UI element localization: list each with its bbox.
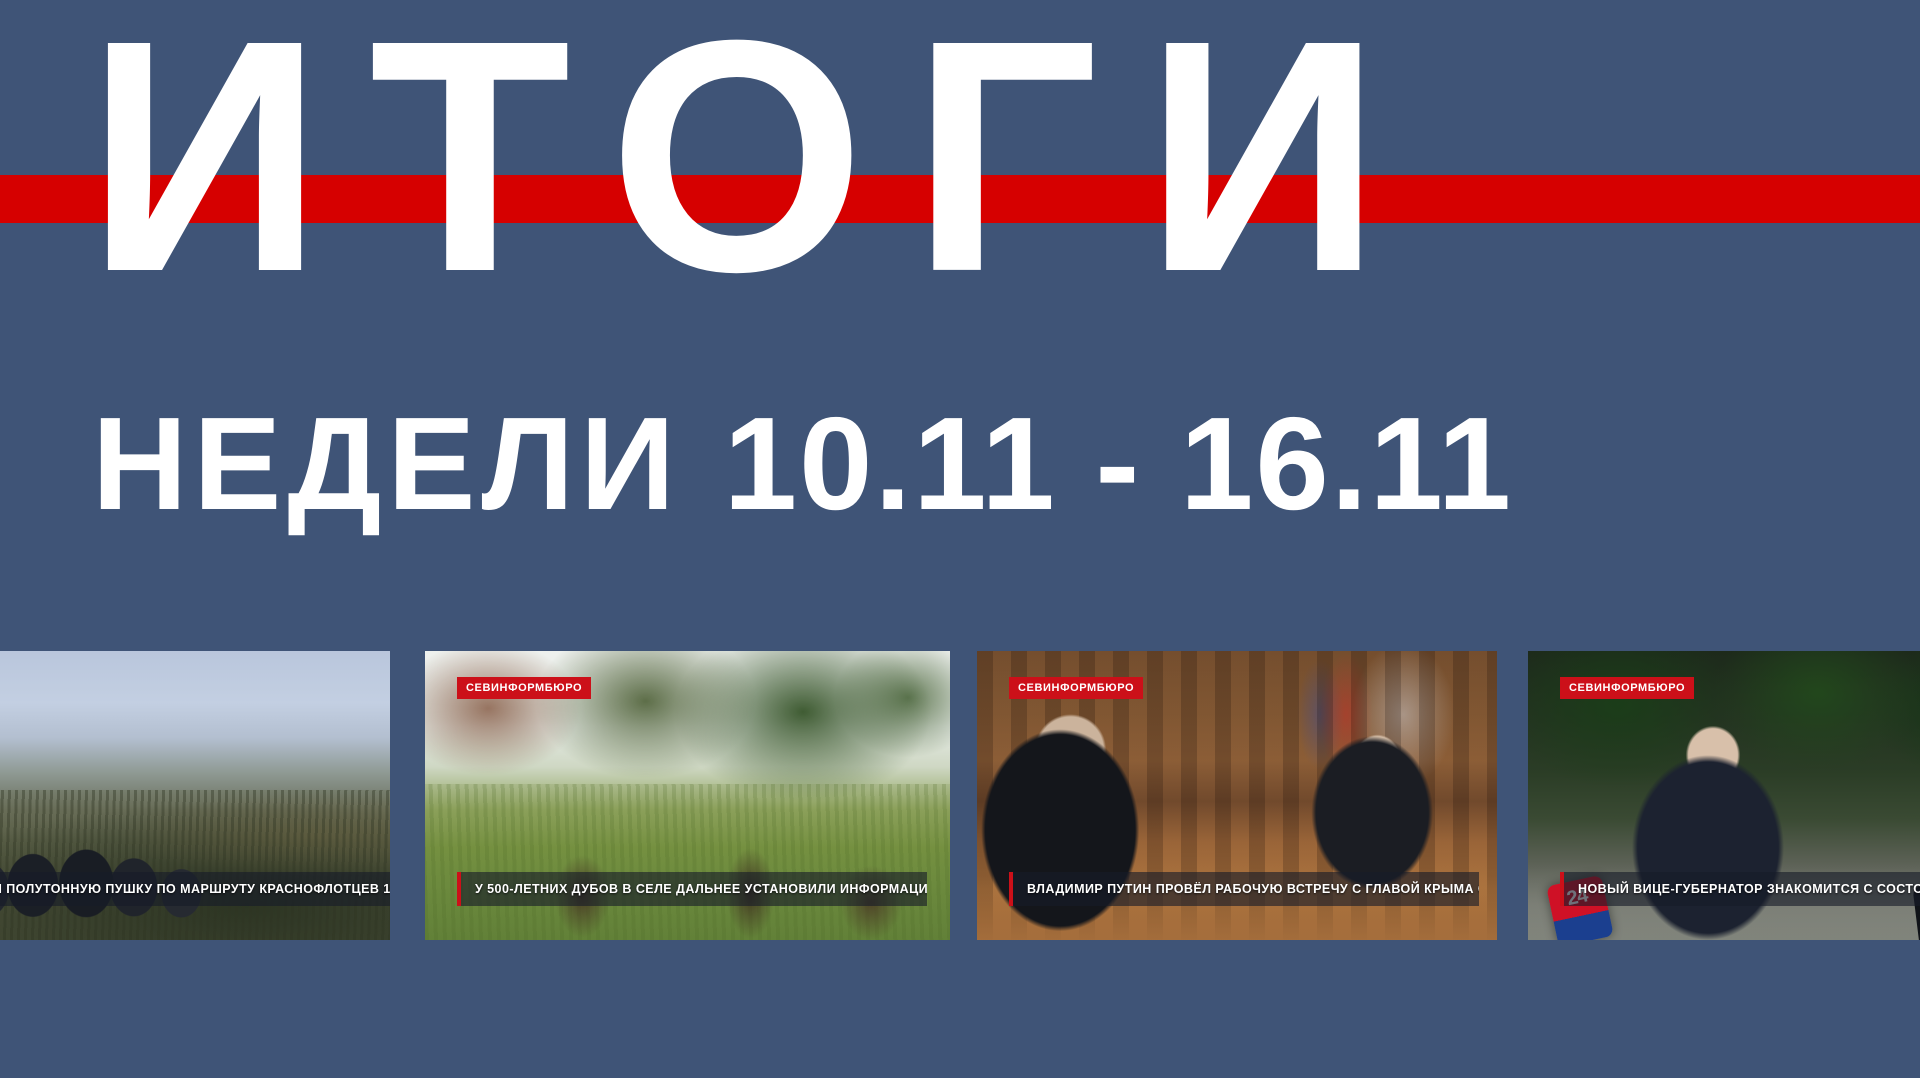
bottom-background-bar [0,940,1920,1078]
news-card-strip: СЕВИНФОРМБЮРО ПРОНЕСЛИ ПОЛУТОННУЮ ПУШКУ … [0,651,1920,940]
news-caption-text: ПРОНЕСЛИ ПОЛУТОННУЮ ПУШКУ ПО МАРШРУТУ КР… [0,882,390,896]
news-caption-text: У 500-ЛЕТНИХ ДУБОВ В СЕЛЕ ДАЛЬНЕЕ УСТАНО… [475,882,927,896]
red-accent-stripe [0,175,1920,223]
page-subtitle: НЕДЕЛИ 10.11 - 16.11 [0,398,1920,530]
news-caption-bar: ПРОНЕСЛИ ПОЛУТОННУЮ ПУШКУ ПО МАРШРУТУ КР… [0,872,390,906]
news-card[interactable]: СЕВИНФОРМБЮРО У 500-ЛЕТНИХ ДУБОВ В СЕЛЕ … [425,651,950,940]
source-badge: СЕВИНФОРМБЮРО [1560,677,1694,699]
news-caption-bar: НОВЫЙ ВИЦЕ-ГУБЕРНАТОР ЗНАКОМИТСЯ С СОСТО… [1560,872,1920,906]
news-card[interactable]: СЕВИНФОРМБЮРО ВЛАДИМИР ПУТИН ПРОВЁЛ РАБО… [977,651,1497,940]
subtitle-word: НЕДЕЛИ [92,390,681,537]
news-caption-text: НОВЫЙ ВИЦЕ-ГУБЕРНАТОР ЗНАКОМИТСЯ С СОСТО… [1578,882,1920,896]
news-card[interactable]: СЕВИНФОРМБЮРО Н 24 НОВЫЙ ВИЦЕ-ГУБЕРНАТОР… [1528,651,1920,940]
news-card[interactable]: СЕВИНФОРМБЮРО ПРОНЕСЛИ ПОЛУТОННУЮ ПУШКУ … [0,651,390,940]
news-caption-bar: У 500-ЛЕТНИХ ДУБОВ В СЕЛЕ ДАЛЬНЕЕ УСТАНО… [457,872,927,906]
headline-wrap: ИТОГИ [0,0,1920,317]
subtitle-date-range: 10.11 - 16.11 [724,390,1513,537]
source-badge: СЕВИНФОРМБЮРО [457,677,591,699]
news-caption-text: ВЛАДИМИР ПУТИН ПРОВЁЛ РАБОЧУЮ ВСТРЕЧУ С … [1027,882,1479,896]
source-badge: СЕВИНФОРМБЮРО [1009,677,1143,699]
promo-banner: ИТОГИ НЕДЕЛИ 10.11 - 16.11 СЕВИНФОРМБЮРО… [0,0,1920,1078]
page-title: ИТОГИ [0,0,1920,317]
news-caption-bar: ВЛАДИМИР ПУТИН ПРОВЁЛ РАБОЧУЮ ВСТРЕЧУ С … [1009,872,1479,906]
